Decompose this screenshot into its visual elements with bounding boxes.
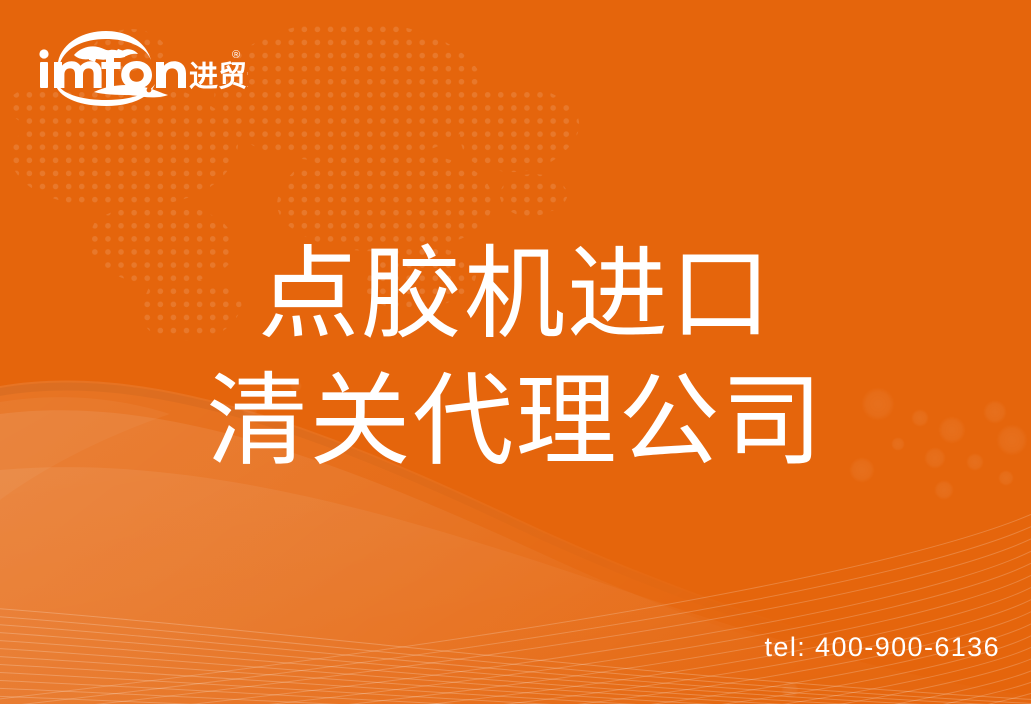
logo-trademark-symbol: ® [232,49,240,61]
headline: 点胶机进口 清关代理公司 [0,232,1031,486]
contact-phone[interactable]: tel: 400-900-6136 [765,632,1000,663]
letter-n [156,61,186,88]
letter-o [121,61,152,89]
imton-logo[interactable]: 进贸通 ® [36,28,248,106]
headline-line-1: 点胶机进口 [0,232,1031,359]
letter-m [54,61,102,88]
promo-banner: 进贸通 ® 点胶机进口 清关代理公司 tel: 400-900-6136 [0,0,1031,704]
letter-i-dot [39,49,48,58]
logo-chinese-name: 进贸通 [189,60,248,93]
swoosh-eye [147,88,152,93]
letter-i-stem [40,62,48,88]
headline-line-2: 清关代理公司 [0,359,1031,486]
